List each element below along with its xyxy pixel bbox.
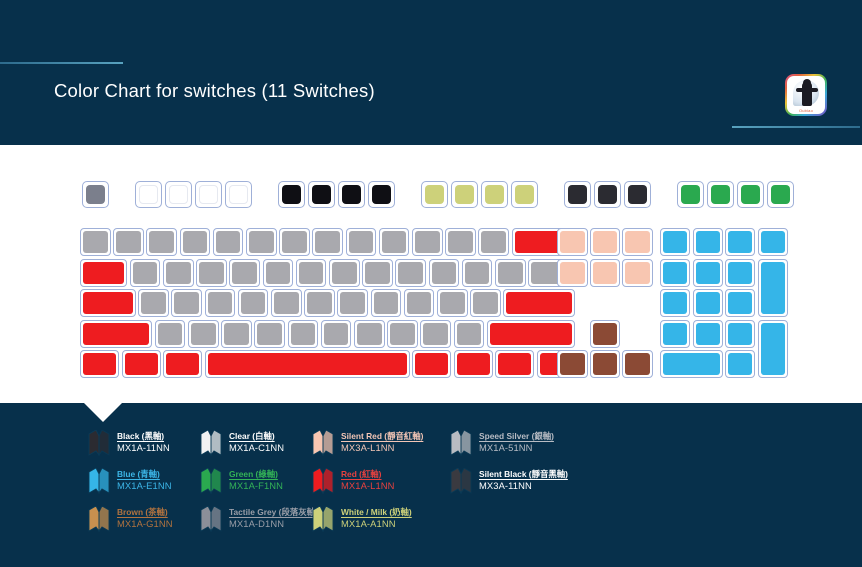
- numpad-key-r3-c3[interactable]: [725, 289, 755, 317]
- key-r4-c1-red[interactable]: [80, 320, 152, 348]
- key-r3-c9-grey[interactable]: [371, 289, 402, 317]
- key-r5-c4-red[interactable]: [205, 350, 410, 378]
- keycap-surface: [625, 262, 650, 284]
- keycap-surface: [625, 353, 650, 375]
- key-r2-c12-grey[interactable]: [462, 259, 493, 287]
- keycap-surface: [741, 185, 760, 204]
- legend-item-brown[interactable]: Brown (茶軸)MX1A-G1NN: [88, 506, 173, 532]
- key-r2-c10-grey[interactable]: [395, 259, 426, 287]
- keycap-surface: [560, 262, 585, 284]
- keycap-surface: [663, 292, 687, 314]
- legend-switch-code: MX1A-C1NN: [229, 443, 284, 454]
- keycap-surface: [324, 323, 349, 345]
- sample-key-green-5-0[interactable]: [677, 181, 704, 208]
- keycap-surface: [761, 262, 785, 315]
- keycap-surface: [560, 231, 585, 253]
- keycap-surface: [425, 185, 444, 204]
- key-r1-c2-grey[interactable]: [113, 228, 144, 256]
- keycap-surface: [415, 353, 448, 375]
- key-r2-c4-grey[interactable]: [196, 259, 227, 287]
- keycap-surface: [291, 323, 316, 345]
- keycap-surface: [457, 353, 490, 375]
- keycap-surface: [174, 292, 199, 314]
- legend-item-clear[interactable]: Clear (白軸)MX1A-C1NN: [200, 430, 284, 456]
- sample-key-green-5-1[interactable]: [707, 181, 734, 208]
- keycap-surface: [432, 262, 457, 284]
- keycap-surface: [83, 231, 108, 253]
- arrow-key-up[interactable]: [590, 320, 621, 348]
- switch-stem-icon: [200, 430, 222, 456]
- keycap-surface: [382, 231, 407, 253]
- legend-switch-name: Tactile Grey (段落灰軸): [229, 508, 318, 518]
- keyboard-stage: [0, 145, 862, 403]
- page-header: Color Chart for switches (11 Switches) O…: [0, 0, 862, 145]
- keycap-surface: [191, 323, 216, 345]
- keycap-surface: [282, 185, 301, 204]
- key-r1-c5-grey[interactable]: [213, 228, 244, 256]
- keycap-surface: [560, 353, 585, 375]
- keycap-surface: [398, 262, 423, 284]
- key-r1-c1-grey[interactable]: [80, 228, 111, 256]
- key-r4-c10-grey[interactable]: [420, 320, 451, 348]
- keycap-surface: [133, 262, 158, 284]
- legend-switch-name: Brown (茶軸): [117, 508, 173, 518]
- legend-switch-code: MX1A-51NN: [479, 443, 554, 454]
- legend-switch-code: MX1A-11NN: [117, 443, 170, 454]
- nav-key-5-silent_red[interactable]: [590, 259, 621, 287]
- key-r2-c11-grey[interactable]: [429, 259, 460, 287]
- key-r4-c5-grey[interactable]: [254, 320, 285, 348]
- key-r5-c2-red[interactable]: [122, 350, 161, 378]
- key-r1-c11-grey[interactable]: [412, 228, 443, 256]
- keycap-surface: [728, 292, 752, 314]
- keycap-surface: [266, 262, 291, 284]
- key-r2-c5-grey[interactable]: [229, 259, 260, 287]
- legend-item-tactile_grey[interactable]: Tactile Grey (段落灰軸)MX1A-D1NN: [200, 506, 318, 532]
- arrow-key-down[interactable]: [590, 350, 621, 378]
- keycap-surface: [625, 231, 650, 253]
- keycap-surface: [593, 231, 618, 253]
- key-r4-c2-grey[interactable]: [155, 320, 186, 348]
- keycap-surface: [485, 185, 504, 204]
- numpad-key-r5-c3[interactable]: [725, 350, 755, 378]
- sample-key-black-2-1[interactable]: [308, 181, 335, 208]
- keycap-surface: [169, 185, 188, 204]
- keycap-surface: [83, 323, 149, 345]
- nav-key-1-silent_red[interactable]: [557, 228, 588, 256]
- keycap-surface: [473, 292, 498, 314]
- legend-switch-code: MX1A-E1NN: [117, 481, 172, 492]
- key-r4-c11-grey[interactable]: [454, 320, 485, 348]
- key-r3-c10-grey[interactable]: [404, 289, 435, 317]
- key-r4-c12-red[interactable]: [487, 320, 576, 348]
- keycap-surface: [166, 353, 199, 375]
- key-r2-c6-grey[interactable]: [263, 259, 294, 287]
- keycap-surface: [490, 323, 573, 345]
- arrow-key-right[interactable]: [622, 350, 653, 378]
- sample-key-white_milk-3-1[interactable]: [451, 181, 478, 208]
- nav-key-3-silent_red[interactable]: [622, 228, 653, 256]
- key-r2-c13-grey[interactable]: [495, 259, 526, 287]
- keycap-surface: [199, 185, 218, 204]
- page-title: Color Chart for switches (11 Switches): [54, 80, 375, 102]
- numpad-key-r3-c1[interactable]: [660, 289, 690, 317]
- keycap-surface: [374, 292, 399, 314]
- key-r2-c7-grey[interactable]: [296, 259, 327, 287]
- key-r4-c4-grey[interactable]: [221, 320, 252, 348]
- keycap-surface: [315, 231, 340, 253]
- keycap-surface: [593, 323, 618, 345]
- key-r3-c1-red[interactable]: [80, 289, 136, 317]
- keycap-surface: [415, 231, 440, 253]
- keycap-surface: [465, 262, 490, 284]
- key-r5-c3-red[interactable]: [163, 350, 202, 378]
- keycap-surface: [681, 185, 700, 204]
- sample-key-clear-1-1[interactable]: [165, 181, 192, 208]
- keycap-surface: [593, 353, 618, 375]
- sample-key-clear-1-2[interactable]: [195, 181, 222, 208]
- legend-item-white_milk[interactable]: White / Milk (奶軸)MX1A-A1NN: [312, 506, 412, 532]
- keycap-surface: [149, 231, 174, 253]
- sample-key-silent_black-4-1[interactable]: [594, 181, 621, 208]
- keycap-surface: [455, 185, 474, 204]
- legend-switch-name: Speed Silver (銀軸): [479, 432, 554, 442]
- numpad-key-r1-c2[interactable]: [693, 228, 723, 256]
- sample-key-clear-1-3[interactable]: [225, 181, 252, 208]
- sample-key-white_milk-3-3[interactable]: [511, 181, 538, 208]
- keycap-surface: [249, 231, 274, 253]
- keycap-surface: [83, 353, 116, 375]
- keycap-surface: [663, 231, 687, 253]
- keycap-surface: [771, 185, 790, 204]
- key-r3-c8-grey[interactable]: [337, 289, 368, 317]
- numpad-key-r4-c2[interactable]: [693, 320, 723, 348]
- numpad-key-r2-c1[interactable]: [660, 259, 690, 287]
- keycap-surface: [166, 262, 191, 284]
- keycap-surface: [711, 185, 730, 204]
- key-r3-c4-grey[interactable]: [205, 289, 236, 317]
- keycap-surface: [728, 323, 752, 345]
- keycap-surface: [224, 323, 249, 345]
- keycap-surface: [696, 292, 720, 314]
- key-r1-c7-grey[interactable]: [279, 228, 310, 256]
- switch-stem-icon: [88, 468, 110, 494]
- sample-key-silent_black-4-2[interactable]: [624, 181, 651, 208]
- keycap-surface: [593, 262, 618, 284]
- legend-item-silent_black[interactable]: Silent Black (靜音黑軸)MX3A-11NN: [450, 468, 568, 494]
- key-r1-c6-grey[interactable]: [246, 228, 277, 256]
- switch-stem-icon: [312, 430, 334, 456]
- keycap-surface: [728, 231, 752, 253]
- legend-switch-code: MX1A-D1NN: [229, 519, 318, 530]
- legend-switch-name: Silent Red (靜音紅軸): [341, 432, 423, 442]
- legend-switch-code: MX3A-11NN: [479, 481, 568, 492]
- legend-switch-code: MX1A-L1NN: [341, 481, 395, 492]
- keycap-surface: [515, 185, 534, 204]
- key-r3-c11-grey[interactable]: [437, 289, 468, 317]
- numpad-key-r4-c4[interactable]: [758, 320, 788, 379]
- legend-item-green[interactable]: Green (綠軸)MX1A-F1NN: [200, 468, 283, 494]
- keycap-surface: [199, 262, 224, 284]
- switch-stem-icon: [200, 506, 222, 532]
- key-r1-c10-grey[interactable]: [379, 228, 410, 256]
- key-r3-c13-red[interactable]: [503, 289, 575, 317]
- key-r3-c3-grey[interactable]: [171, 289, 202, 317]
- keycap-surface: [340, 292, 365, 314]
- keycap-surface: [357, 323, 382, 345]
- keycap-surface: [241, 292, 266, 314]
- legend-switch-code: MX3A-L1NN: [341, 443, 423, 454]
- nav-key-2-silent_red[interactable]: [590, 228, 621, 256]
- keycap-surface: [307, 292, 332, 314]
- key-r4-c3-grey[interactable]: [188, 320, 219, 348]
- legend-switch-name: Red (紅軸): [341, 470, 395, 480]
- keycap-surface: [696, 231, 720, 253]
- key-r1-c8-grey[interactable]: [312, 228, 343, 256]
- key-r4-c6-grey[interactable]: [288, 320, 319, 348]
- keycap-surface: [208, 292, 233, 314]
- key-r1-c13-grey[interactable]: [478, 228, 509, 256]
- keycap-surface: [216, 231, 241, 253]
- key-r5-c1-red[interactable]: [80, 350, 119, 378]
- keycap-surface: [116, 231, 141, 253]
- sample-key-green-5-2[interactable]: [737, 181, 764, 208]
- keycap-surface: [663, 262, 687, 284]
- key-r5-c6-red[interactable]: [454, 350, 493, 378]
- keycap-surface: [728, 353, 752, 375]
- keycap-surface: [83, 292, 133, 314]
- key-r5-c5-red[interactable]: [412, 350, 451, 378]
- switch-stem-icon: [88, 430, 110, 456]
- legend-switch-name: Clear (白軸): [229, 432, 284, 442]
- legend-switch-name: Silent Black (靜音黑軸): [479, 470, 568, 480]
- keycap-surface: [498, 262, 523, 284]
- logo-caption: Oubiao: [787, 108, 825, 113]
- keycap-surface: [506, 292, 572, 314]
- keycap-surface: [761, 323, 785, 376]
- nav-key-4-silent_red[interactable]: [557, 259, 588, 287]
- sample-key-black-2-0[interactable]: [278, 181, 305, 208]
- legend-switch-name: Black (黑軸): [117, 432, 170, 442]
- keycap-surface: [282, 231, 307, 253]
- key-r1-c9-grey[interactable]: [346, 228, 377, 256]
- switch-stem-icon: [312, 468, 334, 494]
- switch-legend: Black (黑軸)MX1A-11NNClear (白軸)MX1A-C1NNSi…: [88, 430, 788, 550]
- keycap-surface: [125, 353, 158, 375]
- switch-stem-icon: [312, 506, 334, 532]
- key-r2-c9-grey[interactable]: [362, 259, 393, 287]
- legend-switch-name: Blue (青軸): [117, 470, 172, 480]
- keycap-surface: [332, 262, 357, 284]
- key-r4-c7-grey[interactable]: [321, 320, 352, 348]
- sample-key-clear-1-0[interactable]: [135, 181, 162, 208]
- switch-stem-icon: [450, 468, 472, 494]
- keycap-surface: [598, 185, 617, 204]
- brand-logo: Oubiao: [785, 74, 827, 116]
- legend-item-silent_red[interactable]: Silent Red (靜音紅軸)MX3A-L1NN: [312, 430, 423, 456]
- keycap-surface: [158, 323, 183, 345]
- keycap-surface: [86, 185, 105, 204]
- key-r1-c12-grey[interactable]: [445, 228, 476, 256]
- keycap-surface: [349, 231, 374, 253]
- keycap-surface: [312, 185, 331, 204]
- keycap-surface: [663, 353, 720, 375]
- keycap-surface: [141, 292, 166, 314]
- legend-switch-code: MX1A-G1NN: [117, 519, 173, 530]
- keycap-surface: [139, 185, 158, 204]
- keycap-surface: [663, 323, 687, 345]
- keycap-surface: [498, 353, 531, 375]
- legend-item-blue[interactable]: Blue (青軸)MX1A-E1NN: [88, 468, 172, 494]
- keycap-surface: [274, 292, 299, 314]
- keycap-surface: [229, 185, 248, 204]
- key-r4-c9-grey[interactable]: [387, 320, 418, 348]
- keycap-surface: [568, 185, 587, 204]
- sample-key-tactile_grey-0-0[interactable]: [82, 181, 109, 208]
- keycap-surface: [440, 292, 465, 314]
- keycap-surface: [481, 231, 506, 253]
- numpad-key-r1-c3[interactable]: [725, 228, 755, 256]
- keycap-surface: [423, 323, 448, 345]
- key-r3-c12-grey[interactable]: [470, 289, 501, 317]
- keycap-surface: [232, 262, 257, 284]
- key-r2-c8-grey[interactable]: [329, 259, 360, 287]
- key-r2-c1-red[interactable]: [80, 259, 127, 287]
- header-accent-line-left: [0, 62, 123, 64]
- keycap-surface: [390, 323, 415, 345]
- sample-key-white_milk-3-2[interactable]: [481, 181, 508, 208]
- key-r5-c7-red[interactable]: [495, 350, 534, 378]
- key-r1-c4-grey[interactable]: [180, 228, 211, 256]
- switch-stem-icon: [200, 468, 222, 494]
- keycap-surface: [208, 353, 407, 375]
- sample-key-silent_black-4-0[interactable]: [564, 181, 591, 208]
- legend-switch-code: MX1A-A1NN: [341, 519, 412, 530]
- keycap-surface: [761, 231, 785, 253]
- sample-key-white_milk-3-0[interactable]: [421, 181, 448, 208]
- numpad-key-r3-c2[interactable]: [693, 289, 723, 317]
- keycap-surface: [257, 323, 282, 345]
- keycap-surface: [299, 262, 324, 284]
- key-r1-c3-grey[interactable]: [146, 228, 177, 256]
- numpad-key-r2-c4[interactable]: [758, 259, 788, 318]
- nav-key-6-silent_red[interactable]: [622, 259, 653, 287]
- logo-figure-body: [802, 82, 812, 106]
- switch-stem-icon: [88, 506, 110, 532]
- keycap-surface: [457, 323, 482, 345]
- keycap-surface: [696, 262, 720, 284]
- numpad-key-r4-c3[interactable]: [725, 320, 755, 348]
- key-r3-c5-grey[interactable]: [238, 289, 269, 317]
- numpad-key-r1-c1[interactable]: [660, 228, 690, 256]
- keycap-surface: [728, 262, 752, 284]
- numpad-key-r2-c3[interactable]: [725, 259, 755, 287]
- numpad-key-r2-c2[interactable]: [693, 259, 723, 287]
- keycap-surface: [342, 185, 361, 204]
- keycap-surface: [448, 231, 473, 253]
- keycap-surface: [83, 262, 124, 284]
- sample-key-black-2-3[interactable]: [368, 181, 395, 208]
- numpad-key-r5-c1[interactable]: [660, 350, 723, 378]
- key-r3-c2-grey[interactable]: [138, 289, 169, 317]
- switch-stem-icon: [450, 430, 472, 456]
- numpad-key-r1-c4[interactable]: [758, 228, 788, 256]
- legend-item-black[interactable]: Black (黑軸)MX1A-11NN: [88, 430, 170, 456]
- footer-callout-notch: [84, 403, 122, 422]
- sample-key-black-2-2[interactable]: [338, 181, 365, 208]
- legend-switch-code: MX1A-F1NN: [229, 481, 283, 492]
- key-r3-c6-grey[interactable]: [271, 289, 302, 317]
- legend-item-red[interactable]: Red (紅軸)MX1A-L1NN: [312, 468, 395, 494]
- sample-key-green-5-3[interactable]: [767, 181, 794, 208]
- keycap-surface: [628, 185, 647, 204]
- header-accent-line-right: [732, 126, 860, 128]
- numpad-key-r4-c1[interactable]: [660, 320, 690, 348]
- key-r2-c2-grey[interactable]: [130, 259, 161, 287]
- keycap-surface: [696, 323, 720, 345]
- logo-inner: Oubiao: [787, 76, 825, 114]
- key-r2-c3-grey[interactable]: [163, 259, 194, 287]
- arrow-key-left[interactable]: [557, 350, 588, 378]
- legend-switch-name: Green (綠軸): [229, 470, 283, 480]
- color-chart-page: Color Chart for switches (11 Switches) O…: [0, 0, 862, 567]
- keycap-surface: [372, 185, 391, 204]
- keycap-surface: [407, 292, 432, 314]
- keycap-surface: [365, 262, 390, 284]
- key-r4-c8-grey[interactable]: [354, 320, 385, 348]
- legend-item-speed_silver[interactable]: Speed Silver (銀軸)MX1A-51NN: [450, 430, 554, 456]
- keycap-surface: [183, 231, 208, 253]
- key-r3-c7-grey[interactable]: [304, 289, 335, 317]
- legend-switch-name: White / Milk (奶軸): [341, 508, 412, 518]
